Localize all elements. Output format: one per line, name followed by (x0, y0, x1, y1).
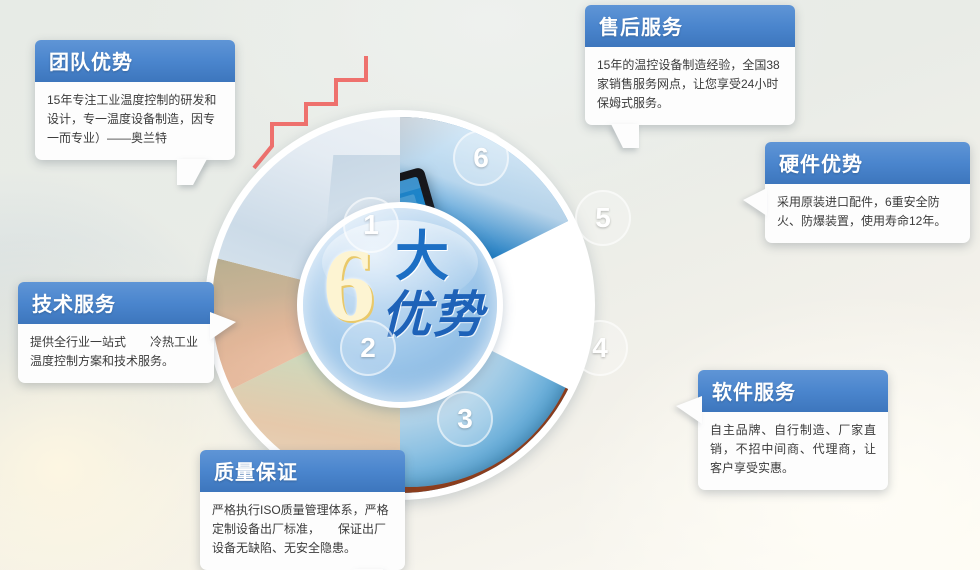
callout-software-text: 自主品牌、自行制造、厂家直销，不招中间商、代理商，让客户享受实惠。 (698, 412, 888, 490)
badge-6[interactable]: 6 (453, 130, 509, 186)
callout-software-tail (676, 396, 702, 424)
infographic-canvas: STOCK MARKET DATA INTC 440.96 (0, 0, 980, 570)
callout-hardware-tail (743, 188, 767, 216)
callout-quality-assurance[interactable]: 质量保证 严格执行ISO质量管理体系，严格定制设备出厂标准， 保证出厂设备无缺陷… (200, 450, 405, 570)
hub-circle: 6 大 优势 (303, 208, 497, 402)
callout-hardware-text: 采用原装进口配件，6重安全防火、防爆装置，使用寿命12年。 (765, 184, 970, 243)
hub-da-character: 大 (395, 230, 449, 284)
callout-after-sales-tail (611, 124, 639, 148)
badge-3[interactable]: 3 (437, 391, 493, 447)
callout-software[interactable]: 软件服务 自主品牌、自行制造、厂家直销，不招中间商、代理商，让客户享受实惠。 (698, 370, 888, 490)
badge-2[interactable]: 2 (340, 320, 396, 376)
callout-after-sales[interactable]: 售后服务 15年的温控设备制造经验，全国38家销售服务网点，让您享受24小时保姆… (585, 5, 795, 125)
hub-youshi-characters: 优势 (381, 290, 485, 340)
six-advantages-wheel: STOCK MARKET DATA INTC 440.96 (205, 110, 595, 500)
callout-technical-tail (210, 312, 236, 340)
callout-team-advantage[interactable]: 团队优势 15年专注工业温度控制的研发和设计，专一温度设备制造，因专一而专业）—… (35, 40, 235, 160)
callout-quality-text: 严格执行ISO质量管理体系，严格定制设备出厂标准， 保证出厂设备无缺陷、无安全隐… (200, 492, 405, 570)
callout-hardware[interactable]: 硬件优势 采用原装进口配件，6重安全防火、防爆装置，使用寿命12年。 (765, 142, 970, 243)
callout-technical-service[interactable]: 技术服务 提供全行业一站式 冷热工业温度控制方案和技术服务。 (18, 282, 214, 383)
callout-quality-title: 质量保证 (200, 450, 405, 492)
callout-after-sales-title: 售后服务 (585, 5, 795, 47)
callout-software-title: 软件服务 (698, 370, 888, 412)
callout-team-text: 15年专注工业温度控制的研发和设计，专一温度设备制造，因专一而专业）——奥兰特 (35, 82, 235, 160)
callout-after-sales-text: 15年的温控设备制造经验，全国38家销售服务网点，让您享受24小时保姆式服务。 (585, 47, 795, 125)
callout-technical-text: 提供全行业一站式 冷热工业温度控制方案和技术服务。 (18, 324, 214, 383)
callout-hardware-title: 硬件优势 (765, 142, 970, 184)
badge-5[interactable]: 5 (575, 190, 631, 246)
badge-4[interactable]: 4 (572, 320, 628, 376)
badge-1[interactable]: 1 (343, 197, 399, 253)
callout-team-tail (177, 159, 207, 185)
callout-team-title: 团队优势 (35, 40, 235, 82)
callout-technical-title: 技术服务 (18, 282, 214, 324)
